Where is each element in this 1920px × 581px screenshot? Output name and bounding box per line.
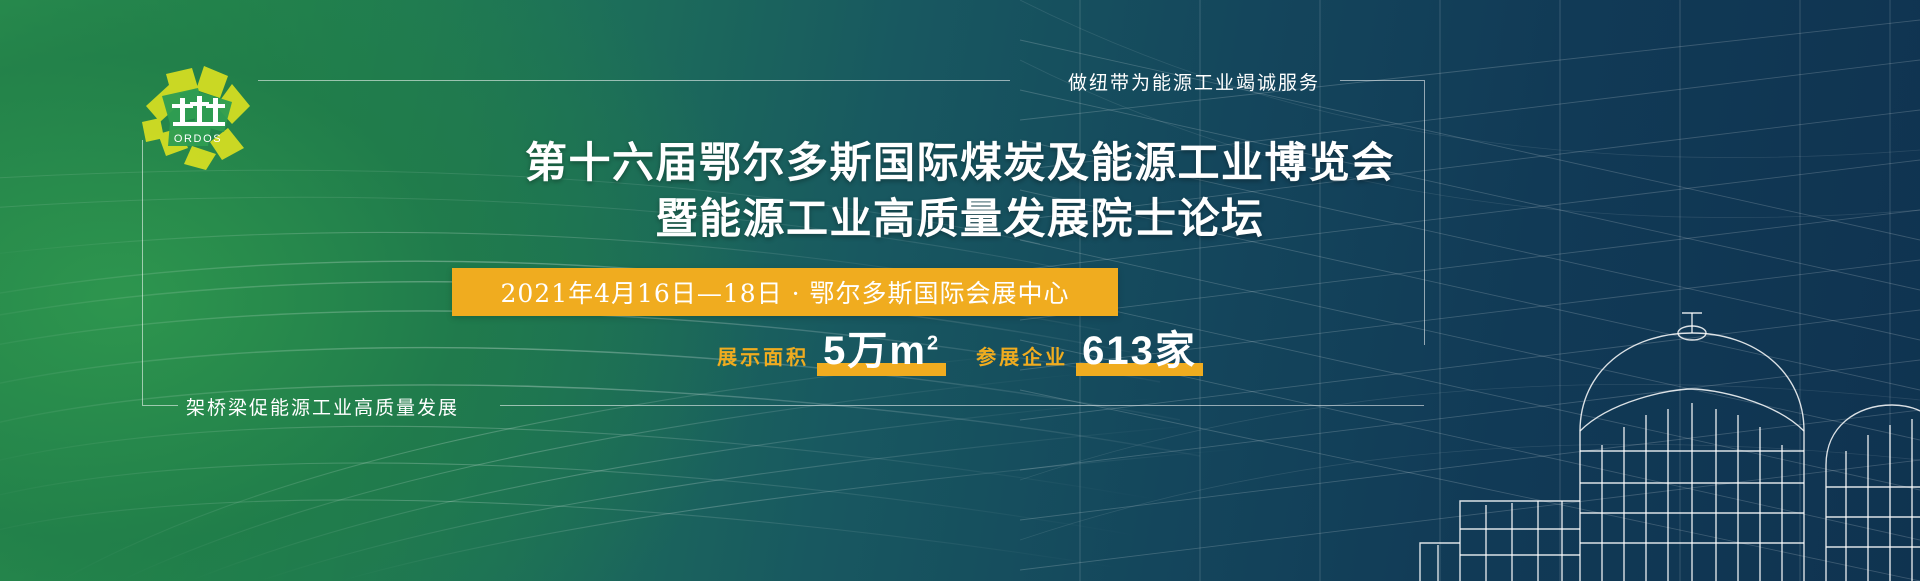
tagline-bottom-left: 架桥梁促能源工业高质量发展 xyxy=(186,393,459,420)
stat-value-exhibition-area: 5万m2 xyxy=(823,329,940,373)
stat-superscript-area: 2 xyxy=(927,333,940,355)
title-line-1: 第十六届鄂尔多斯国际煤炭及能源工业博览会 xyxy=(0,135,1920,191)
stat-value-wrap-count: 613家 xyxy=(1076,330,1203,376)
stat-value-wrap-area: 5万m2 xyxy=(817,330,946,376)
rule-bottom-left xyxy=(142,405,178,406)
stats-row: 展示面积 5万m2 参展企业 613家 xyxy=(0,330,1920,376)
rule-top-left xyxy=(258,80,1010,81)
stat-value-exhibitor-count: 613家 xyxy=(1082,329,1197,373)
convention-center-wireframe xyxy=(1280,251,1920,581)
stat-label-exhibition-area: 展示面积 xyxy=(717,341,809,376)
title-line-2: 暨能源工业高质量发展院士论坛 xyxy=(0,191,1920,247)
stat-label-exhibitor-count: 参展企业 xyxy=(976,341,1068,376)
tagline-top-right: 做纽带为能源工业竭诚服务 xyxy=(1068,68,1320,95)
stat-exhibition-area: 展示面积 5万m2 xyxy=(717,330,946,376)
rule-bottom xyxy=(500,405,1424,406)
event-banner: ORDOS 做纽带为能源工业竭诚服务 架桥梁促能源工业高质量发展 第十六届鄂尔多… xyxy=(0,0,1920,581)
rule-top-right xyxy=(1340,80,1424,81)
stat-exhibitor-count: 参展企业 613家 xyxy=(976,330,1203,376)
stat-number-area: 5万m xyxy=(823,329,927,373)
date-venue-bar: 2021年4月16日—18日 · 鄂尔多斯国际会展中心 xyxy=(452,268,1118,316)
date-venue-text: 2021年4月16日—18日 · 鄂尔多斯国际会展中心 xyxy=(501,274,1070,310)
event-title: 第十六届鄂尔多斯国际煤炭及能源工业博览会 暨能源工业高质量发展院士论坛 xyxy=(0,135,1920,247)
